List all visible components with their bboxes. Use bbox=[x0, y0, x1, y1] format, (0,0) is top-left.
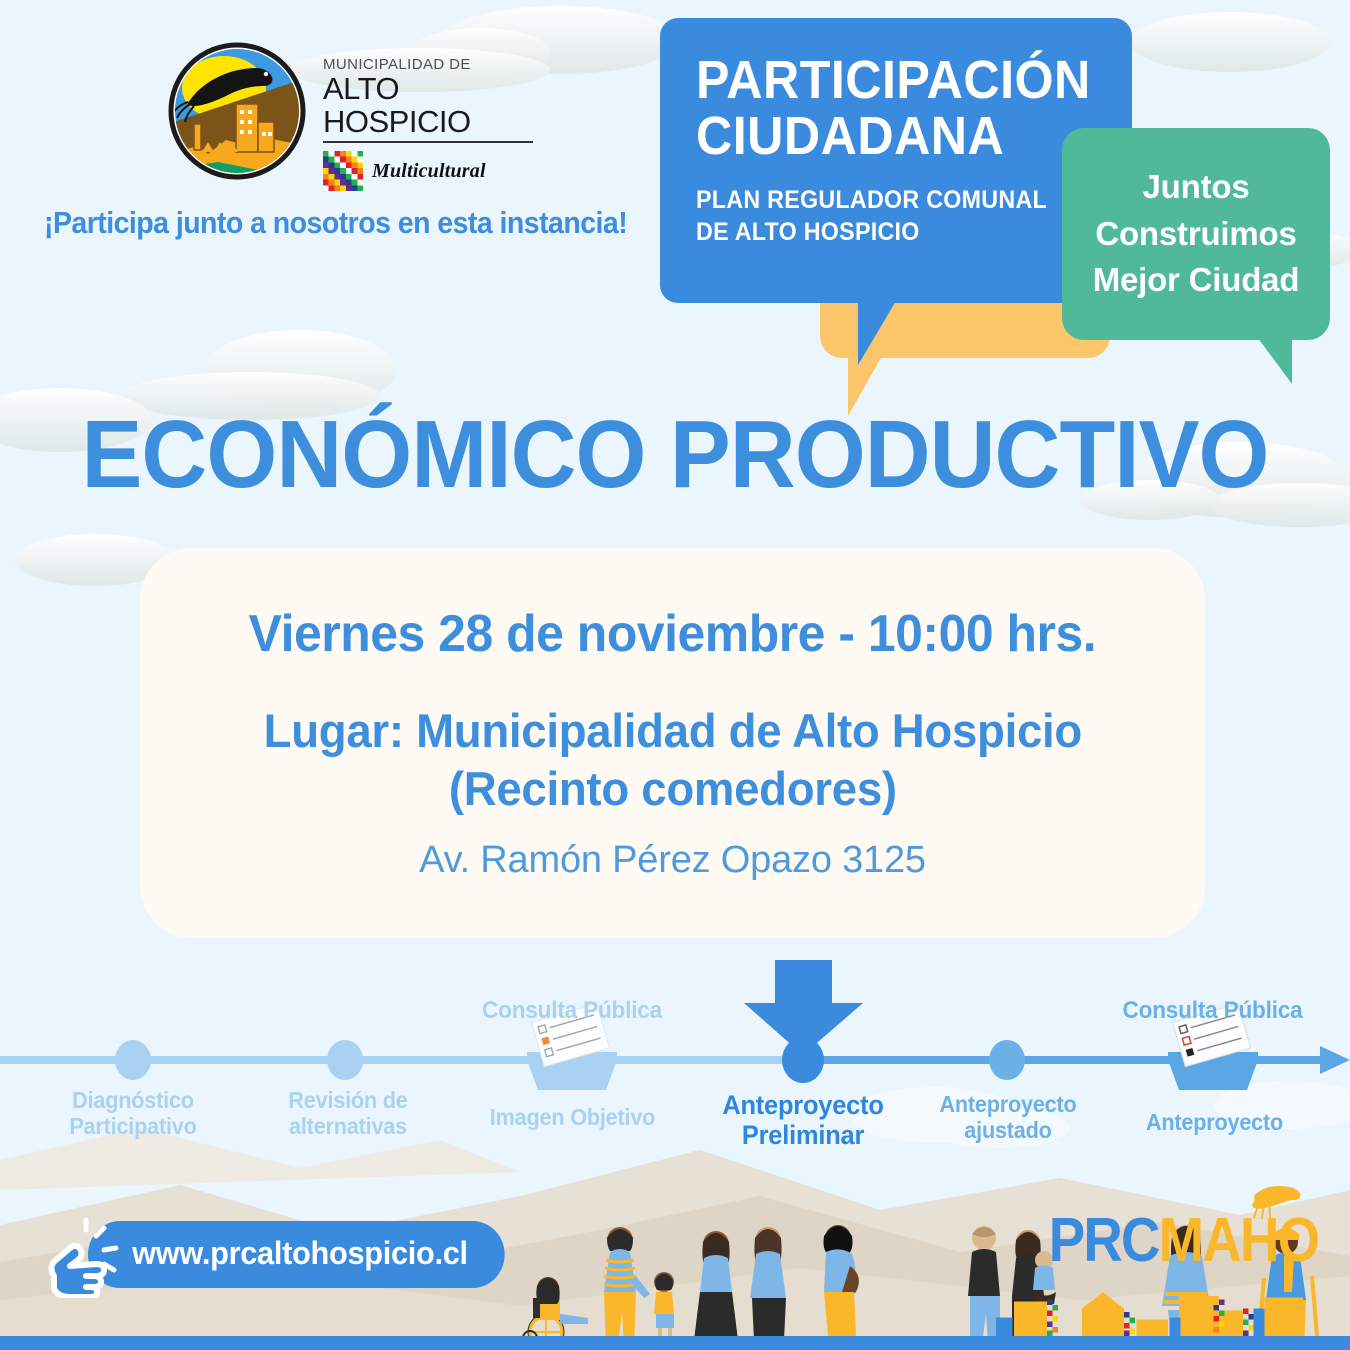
timeline-dot-5 bbox=[989, 1040, 1025, 1080]
person-pregnant-woman bbox=[822, 1225, 859, 1350]
participation-sub-line2: DE ALTO HOSPICIO bbox=[696, 218, 920, 246]
bottom-accent-band bbox=[0, 1336, 1350, 1350]
event-place-line1: Lugar: Municipalidad de Alto Hospicio bbox=[263, 704, 1081, 757]
timeline-step-3-label: Imagen Objetivo bbox=[476, 1105, 669, 1131]
slogan-bubble: Juntos Construimos Mejor Ciudad bbox=[1062, 128, 1330, 340]
prc-logo-prc: PRC bbox=[1048, 1206, 1158, 1275]
logo-line2: ALTO HOSPICIO bbox=[323, 73, 533, 143]
timeline-step-1-label: Diagnóstico Participativo bbox=[39, 1088, 227, 1140]
poster-canvas: MUNICIPALIDAD DE ALTO HOSPICIO Multicult… bbox=[0, 0, 1350, 1350]
municipal-logo: MUNICIPALIDAD DE ALTO HOSPICIO Multicult… bbox=[168, 42, 528, 192]
person-man-with-child bbox=[604, 1227, 674, 1348]
event-date: Viernes 28 de noviembre - 10:00 hrs. bbox=[249, 604, 1097, 664]
tagline: ¡Participa junto a nosotros en esta inst… bbox=[44, 205, 596, 241]
website-url-button[interactable]: www.prcaltohospicio.cl bbox=[88, 1221, 504, 1288]
timeline-step-5-label: Anteproyecto ajustado bbox=[914, 1092, 1102, 1144]
participation-title: PARTICIPACIÓN CIUDADANA bbox=[696, 52, 1068, 164]
process-timeline: Diagnóstico Participativo Revisión de al… bbox=[0, 960, 1350, 1190]
timeline-step-2-line1: Revisión de bbox=[288, 1087, 407, 1113]
timeline-step-4-line1: Anteproyecto bbox=[722, 1090, 883, 1120]
timeline-dot-1 bbox=[115, 1040, 151, 1080]
event-info-card: Viernes 28 de noviembre - 10:00 hrs. Lug… bbox=[140, 548, 1205, 938]
page-title: ECONÓMICO PRODUCTIVO bbox=[34, 400, 1317, 510]
current-step-arrow-icon bbox=[744, 960, 863, 1055]
condor-bird-icon bbox=[1250, 1184, 1308, 1222]
timeline-graphic bbox=[0, 960, 1350, 1190]
timeline-step-5-line2: ajustado bbox=[964, 1117, 1051, 1143]
timeline-step-4-line2: Preliminar bbox=[742, 1120, 864, 1150]
event-place-line2: (Recinto comedores) bbox=[449, 762, 897, 815]
timeline-dot-2 bbox=[327, 1040, 363, 1080]
participation-sub-line1: PLAN REGULADOR COMUNAL bbox=[696, 186, 1047, 214]
event-place: Lugar: Municipalidad de Alto Hospicio (R… bbox=[263, 702, 1081, 817]
participation-title-line2: CIUDADANA bbox=[696, 106, 1004, 166]
event-address: Av. Ramón Pérez Opazo 3125 bbox=[419, 839, 926, 882]
multicultural-row: Multicultural bbox=[323, 151, 533, 191]
multicultural-label: Multicultural bbox=[372, 160, 486, 183]
timeline-step-3-toplabel: Consulta Pública bbox=[478, 998, 666, 1025]
logo-wordmark: MUNICIPALIDAD DE ALTO HOSPICIO Multicult… bbox=[323, 56, 533, 191]
timeline-step-6-label: Anteproyecto bbox=[1118, 1110, 1311, 1136]
participation-title-line1: PARTICIPACIÓN bbox=[696, 50, 1091, 110]
participation-subtitle: PLAN REGULADOR COMUNAL DE ALTO HOSPICIO bbox=[696, 184, 1068, 248]
prc-maho-cityscape-icon bbox=[990, 1272, 1320, 1336]
person-women-pair bbox=[694, 1227, 786, 1350]
timeline-step-2-label: Revisión de alternativas bbox=[254, 1088, 442, 1140]
timeline-step-4-label: Anteproyecto Preliminar bbox=[706, 1090, 900, 1150]
timeline-step-5-line1: Anteproyecto bbox=[939, 1091, 1076, 1117]
timeline-step-2-line2: alternativas bbox=[289, 1113, 407, 1139]
municipal-seal-condor-icon bbox=[168, 42, 306, 180]
slogan-line3: Mejor Ciudad bbox=[1093, 257, 1300, 304]
pointing-hand-click-icon bbox=[40, 1218, 124, 1298]
timeline-step-1-line2: Participativo bbox=[69, 1113, 196, 1139]
timeline-step-1-line1: Diagnóstico bbox=[72, 1087, 194, 1113]
timeline-step-6-toplabel: Consulta Pública bbox=[1116, 998, 1309, 1025]
wiphala-flag-icon bbox=[323, 151, 363, 191]
slogan-line2: Construimos bbox=[1095, 211, 1296, 258]
slogan-line1: Juntos bbox=[1143, 164, 1250, 211]
